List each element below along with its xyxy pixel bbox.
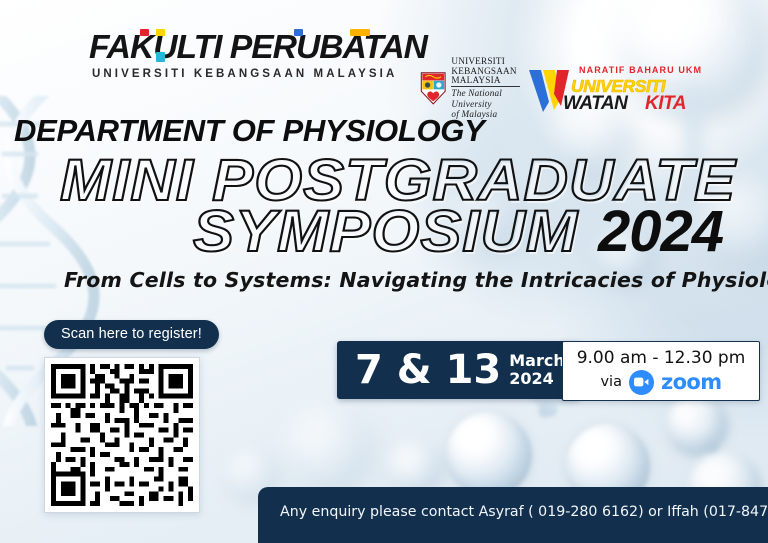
date-days: 7 & 13 (355, 350, 501, 390)
zoom-camera-icon (629, 370, 654, 395)
watan-kita-watan: WATAN (563, 93, 627, 115)
background-sphere (446, 412, 532, 498)
department-title: DEPARTMENT OF PHYSIOLOGY (14, 113, 484, 149)
via-label: via (600, 374, 622, 390)
scan-to-register-badge: Scan here to register! (44, 320, 219, 349)
watan-kita-naratif: NARATIF BAHARU UKM (579, 65, 702, 75)
faculty-logo-sub: UNIVERSITI KEBANGSAAN MALAYSIA (92, 68, 392, 80)
background-sphere (282, 404, 374, 496)
logo-row: FAKULTI PERUBATAN UNIVERSITI KEBANGSAAN … (0, 26, 768, 100)
watan-kita-logo: NARATIF BAHARU UKM UNIVERSITI WATAN KITA (527, 62, 687, 118)
logo-accent-dot-blue (294, 29, 303, 36)
video-camera-glyph (634, 377, 649, 387)
qr-code-image (51, 364, 193, 506)
ukm-crest-logo: UNIVERSITI KEBANGSAAN MALAYSIA The Natio… (420, 60, 520, 116)
crest-line-3: MALAYSIA (451, 76, 520, 85)
watan-kita-kita: KITA (645, 93, 686, 115)
ukm-shield-icon (420, 65, 446, 111)
title-year: 2024 (598, 198, 723, 265)
event-time: 9.00 am - 12.30 pm (577, 348, 746, 368)
footer-contact-text: Any enquiry please contact Asyraf ( 019-… (280, 504, 768, 520)
poster-canvas: FAKULTI PERUBATAN UNIVERSITI KEBANGSAAN … (0, 0, 768, 543)
logo-accent-dot-yellow (156, 29, 165, 36)
date-banner: 7 & 13 March 2024 (337, 341, 579, 399)
qr-code[interactable] (44, 357, 200, 513)
background-sphere (666, 394, 728, 456)
logo-accent-dot-cyan (156, 52, 165, 62)
date-month-year: March 2024 (509, 352, 564, 388)
title-line-2: SYMPOSIUM (193, 198, 578, 265)
background-bond (686, 403, 720, 456)
date-month: March (509, 352, 564, 370)
crest-divider (451, 86, 520, 87)
platform-row: via zoom (600, 370, 721, 395)
poster-tagline: From Cells to Systems: Navigating the In… (64, 268, 768, 292)
crest-tagline-1: The National University (451, 88, 520, 108)
zoom-wordmark: zoom (661, 370, 722, 394)
faculty-logo: FAKULTI PERUBATAN UNIVERSITI KEBANGSAAN … (92, 30, 392, 80)
time-platform-box: 9.00 am - 12.30 pm via zoom (562, 341, 760, 401)
date-year: 2024 (509, 370, 564, 388)
ukm-crest-text: UNIVERSITI KEBANGSAAN MALAYSIA The Natio… (451, 57, 520, 118)
footer-bar: Any enquiry please contact Asyraf ( 019-… (258, 487, 768, 543)
logo-accent-dot-red (140, 29, 149, 36)
logo-accent-dot-orange (350, 29, 370, 36)
